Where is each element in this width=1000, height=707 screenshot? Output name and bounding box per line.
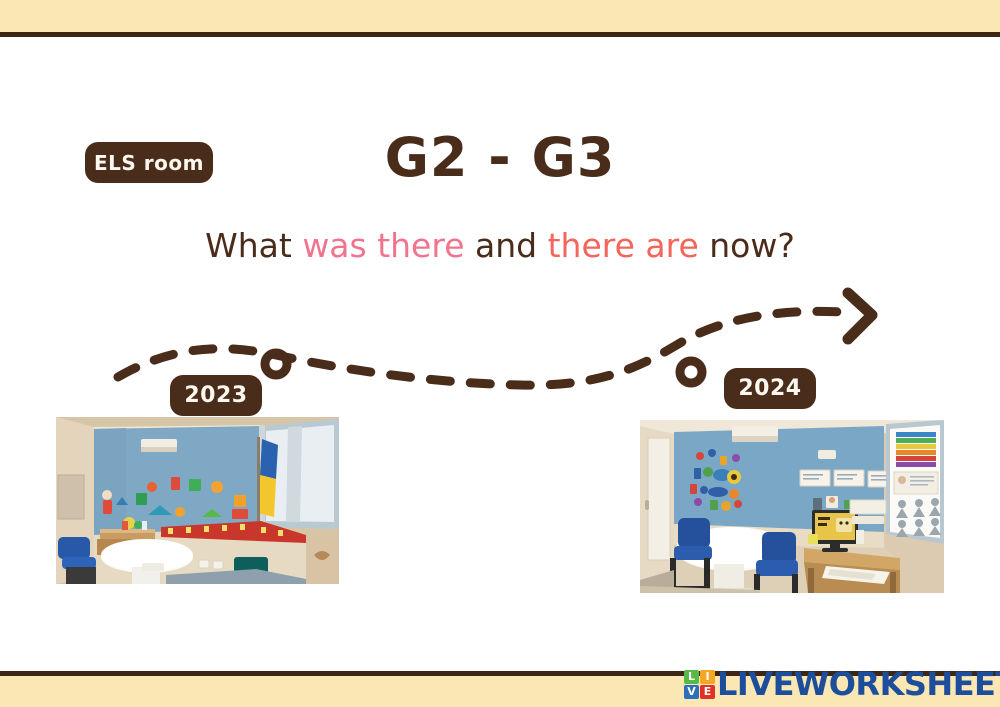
worksheet-slide: ELS room G2 - G3 What was there and ther… xyxy=(0,0,1000,707)
year-badge-2023: 2023 xyxy=(170,375,262,416)
logo-block-v: V xyxy=(684,685,699,699)
timeline-marker-2024 xyxy=(680,361,702,383)
liveworksheets-logo: L I V E LIVEWORKSHEETS xyxy=(684,665,1000,703)
question-phrase-was-there: was there xyxy=(302,226,464,265)
year-badge-2023-label: 2023 xyxy=(184,383,247,408)
question-phrase-there-are: there are xyxy=(548,226,699,265)
top-decorative-band xyxy=(0,0,1000,33)
year-badge-2024-label: 2024 xyxy=(738,376,801,401)
question-prompt: What was there and there are now? xyxy=(0,226,1000,265)
logo-block-e: E xyxy=(700,685,715,699)
top-divider-rule xyxy=(0,32,1000,37)
logo-block-l: L xyxy=(684,670,699,684)
question-word-now: now? xyxy=(709,226,795,265)
question-word-and: and xyxy=(475,226,548,265)
photo-2023 xyxy=(56,417,339,584)
logo-wordmark: LIVEWORKSHEETS xyxy=(717,668,1000,700)
logo-block-i: I xyxy=(700,670,715,684)
page-title: G2 - G3 xyxy=(0,126,1000,189)
timeline-marker-2023 xyxy=(265,353,287,375)
photo-2024 xyxy=(640,420,944,593)
year-badge-2024: 2024 xyxy=(724,368,816,409)
question-word-what: What xyxy=(205,226,302,265)
arrow-right-icon xyxy=(848,293,872,339)
logo-letter-blocks: L I V E xyxy=(684,670,715,699)
